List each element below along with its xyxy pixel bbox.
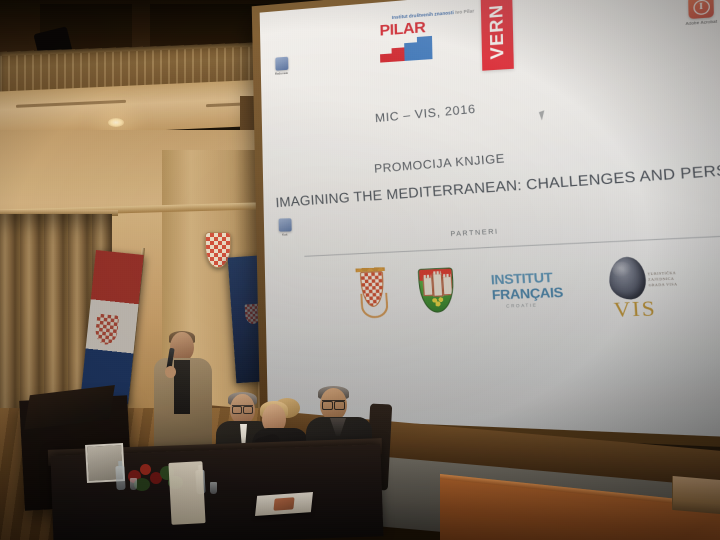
city-of-vis-coat-of-arms-icon bbox=[418, 267, 456, 313]
water-bottle bbox=[115, 466, 125, 490]
institut-francais-sub: CROATIE bbox=[506, 302, 568, 309]
vis-tourist-board-sub: TURISTIČKA ZAJEDNICA GRADA VISA bbox=[648, 270, 689, 288]
ceiling-light bbox=[108, 118, 124, 127]
pdf-glyph: I bbox=[688, 0, 714, 19]
pdf-icon-1-label: Adobe Acrobat bbox=[677, 19, 720, 28]
projection-screen: Računalo Koš I Adobe Acrobat I Adobe Rea… bbox=[260, 0, 720, 439]
standing-speaker bbox=[152, 332, 214, 458]
institut-francais-line2: FRANÇAIS bbox=[491, 285, 567, 301]
split-dalmatia-county-coat-of-arms-icon bbox=[352, 261, 391, 318]
shortcut-label: Koš bbox=[270, 233, 300, 237]
vern-logo: VERN bbox=[481, 0, 514, 71]
partners-heading: PARTNERI bbox=[450, 228, 499, 238]
auditorium-photo: Računalo Koš I Adobe Acrobat I Adobe Rea… bbox=[0, 0, 720, 540]
slide-subtitle: PROMOCIJA KNJIGE bbox=[374, 153, 506, 176]
eyeglasses-icon bbox=[322, 400, 345, 408]
shortcut-icon-left-top[interactable]: Računalo bbox=[266, 56, 296, 77]
pilar-logo: Institut društvenih znanosti Ivo Pilar P… bbox=[379, 10, 464, 69]
open-book bbox=[255, 492, 313, 516]
eyeglasses-icon bbox=[232, 405, 253, 412]
pdf-icon-1[interactable]: I Adobe Acrobat bbox=[677, 0, 720, 27]
drinking-glass bbox=[210, 482, 217, 494]
vern-wordmark: VERN bbox=[487, 3, 507, 59]
vis-wordmark: VIS bbox=[613, 298, 657, 321]
partner-logo-row: INSTITUT FRANÇAIS CROATIE TURISTIČKA ZAJ… bbox=[265, 255, 720, 383]
table-napkin bbox=[168, 461, 205, 525]
institut-francais-logo: INSTITUT FRANÇAIS CROATIE bbox=[490, 270, 568, 309]
shortcut-icon-left-bottom[interactable]: Koš bbox=[270, 218, 300, 237]
drinking-glass bbox=[130, 478, 137, 490]
mouse-cursor-icon bbox=[539, 109, 551, 120]
classical-head-icon bbox=[608, 256, 647, 300]
projection-screen-frame: Računalo Koš I Adobe Acrobat I Adobe Rea… bbox=[252, 0, 720, 450]
partners-divider bbox=[304, 235, 720, 256]
vis-tourist-board-logo: TURISTIČKA ZAJEDNICA GRADA VISA VIS bbox=[605, 254, 698, 327]
shortcut-glyph bbox=[278, 218, 291, 231]
ledge-box bbox=[672, 476, 720, 514]
shortcut-label: Računalo bbox=[267, 71, 297, 77]
slide-event-line: MIC – VIS, 2016 bbox=[375, 103, 476, 125]
shortcut-glyph bbox=[275, 57, 288, 71]
pilar-steps-mark bbox=[380, 35, 443, 62]
